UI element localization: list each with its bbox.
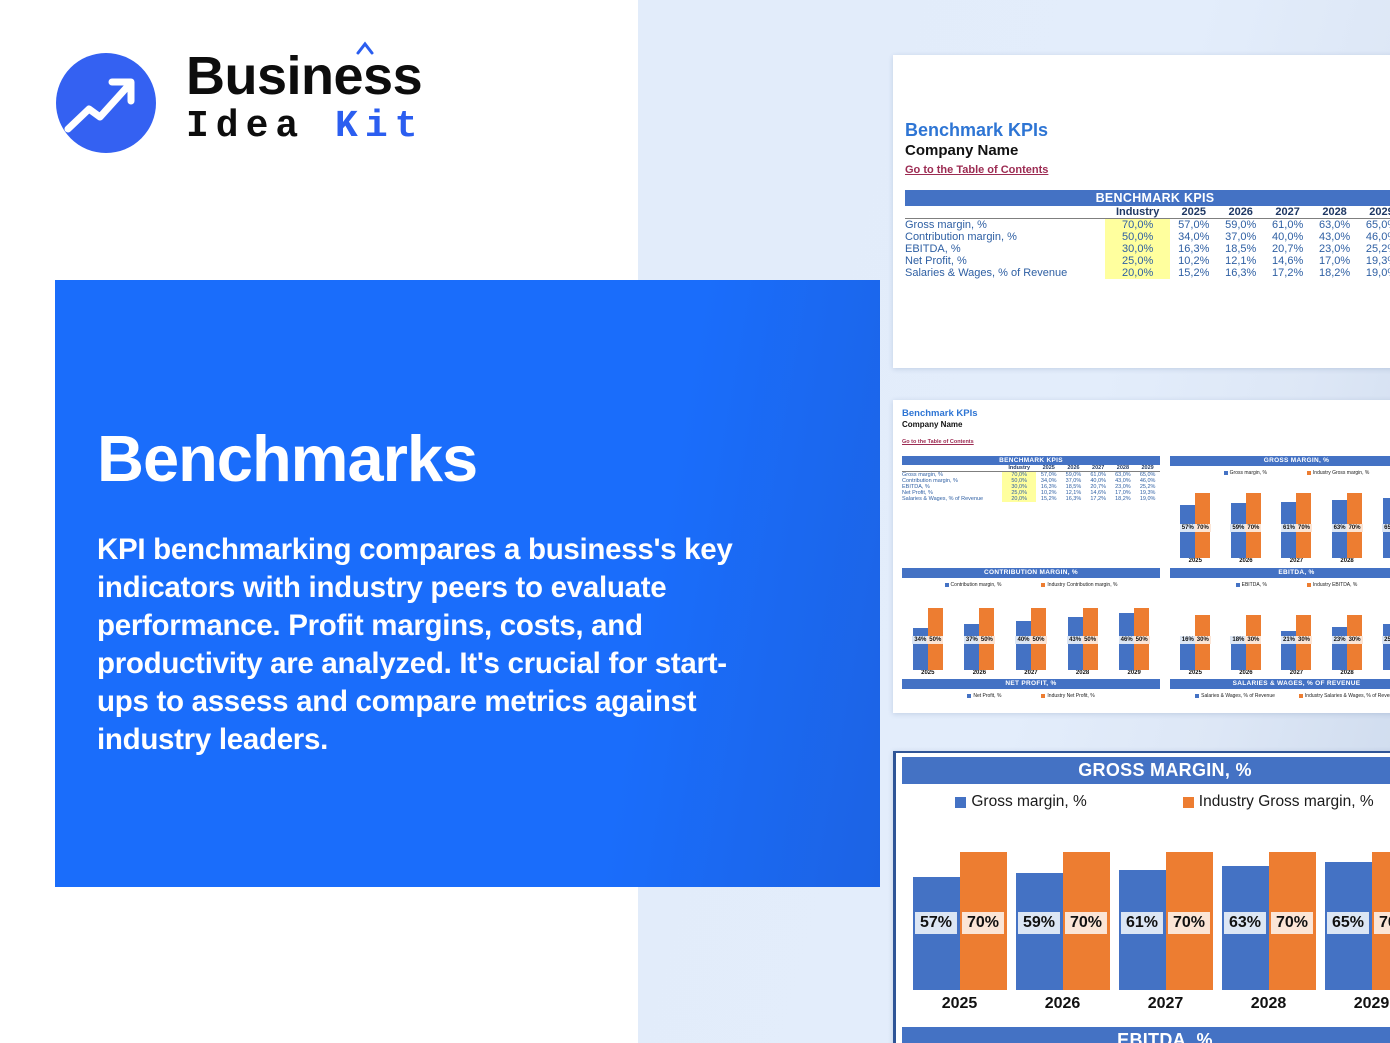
legend-item-series2: Industry Gross margin, % bbox=[1183, 793, 1374, 811]
bar-value-label: 18% bbox=[1230, 636, 1246, 644]
legend-item-series1: Contribution margin, % bbox=[945, 582, 1002, 588]
chart-gross-margin-mini[interactable]: GROSS MARGIN, % Gross margin, % Industry… bbox=[1170, 456, 1390, 564]
bar-value-label: 70% bbox=[1065, 912, 1107, 934]
bar: 63% bbox=[1332, 500, 1347, 558]
chart-legend: EBITDA, % Industry EBITDA, % bbox=[1170, 582, 1390, 588]
bar: 50% bbox=[1134, 608, 1149, 670]
chart-title: EBITDA, % bbox=[902, 1027, 1390, 1043]
x-axis-tick: 2025 bbox=[1172, 558, 1218, 564]
legend-item-series1: Gross margin, % bbox=[1224, 470, 1267, 476]
x-axis-tick: 2025 bbox=[910, 995, 1010, 1013]
cell-value: 40,0% bbox=[1264, 231, 1311, 243]
bar: 70% bbox=[1195, 493, 1210, 558]
circumflex-accent-icon bbox=[356, 41, 374, 55]
chart-x-axis: 20252026202720282029 bbox=[1170, 670, 1390, 676]
bar-group: 61%70% bbox=[1119, 832, 1213, 990]
bar: 61% bbox=[1281, 502, 1296, 558]
bar-value-label: 63% bbox=[1224, 912, 1266, 934]
chart-title: CONTRIBUTION MARGIN, % bbox=[902, 568, 1160, 578]
bar-value-label: 70% bbox=[962, 912, 1004, 934]
bar: 50% bbox=[1031, 608, 1046, 670]
column-header: 2026 bbox=[1217, 206, 1264, 219]
cell-value: 16,3% bbox=[1217, 267, 1264, 279]
bar-value-label: 61% bbox=[1121, 912, 1163, 934]
x-axis-tick: 2027 bbox=[1116, 995, 1216, 1013]
bar-group: 65%70% bbox=[1325, 832, 1390, 990]
legend-swatch-blue-icon bbox=[967, 694, 971, 698]
chart-title: SALARIES & WAGES, % OF REVENUE bbox=[1170, 679, 1390, 689]
legend-label: Gross margin, % bbox=[971, 793, 1086, 811]
spreadsheet-card-charts[interactable]: GROSS MARGIN, % Gross margin, % Industry… bbox=[893, 751, 1390, 1043]
kpi-band-title: BENCHMARK KPIS bbox=[905, 190, 1390, 206]
table-row: Salaries & Wages, % of Revenue20,0%15,2%… bbox=[905, 267, 1390, 279]
cell-value: 61,0% bbox=[1264, 219, 1311, 232]
x-axis-tick: 2026 bbox=[1223, 670, 1269, 676]
legend-item-series1: Salaries & Wages, % of Revenue bbox=[1195, 693, 1275, 699]
bar: 70% bbox=[1372, 852, 1390, 990]
bar-group: 46%50% bbox=[1119, 596, 1149, 670]
cell-value: 15,2% bbox=[1036, 496, 1061, 502]
brand-line-1: Business bbox=[186, 47, 424, 105]
legend-swatch-orange-icon bbox=[1299, 694, 1303, 698]
bar: 57% bbox=[1180, 505, 1195, 558]
bar-value-label: 70% bbox=[1195, 524, 1211, 532]
table-row: Contribution margin, %50,0%34,0%37,0%40,… bbox=[905, 231, 1390, 243]
cell-value: 17,2% bbox=[1264, 267, 1311, 279]
bar: 70% bbox=[960, 852, 1007, 990]
spreadsheet-card-dashboard[interactable]: Benchmark KPIs Company Name Go to the Ta… bbox=[893, 400, 1390, 713]
bar-value-label: 70% bbox=[1168, 912, 1210, 934]
cell-value: 63,0% bbox=[1311, 219, 1358, 232]
legend-label: Net Profit, % bbox=[973, 693, 1001, 699]
legend-swatch-orange-icon bbox=[1307, 471, 1311, 475]
sheet-company-name-mini: Company Name bbox=[902, 420, 1390, 430]
bar: 34% bbox=[913, 628, 928, 670]
cell-industry: 20,0% bbox=[1105, 267, 1170, 279]
cell-value: 37,0% bbox=[1217, 231, 1264, 243]
row-label: Net Profit, % bbox=[905, 255, 1105, 267]
x-axis-tick: 2028 bbox=[1324, 558, 1370, 564]
bar: 40% bbox=[1016, 621, 1031, 670]
table-row: Salaries & Wages, % of Revenue20,0%15,2%… bbox=[902, 496, 1160, 502]
cell-industry: 50,0% bbox=[1105, 231, 1170, 243]
bar-value-label: 34% bbox=[912, 636, 928, 644]
x-axis-tick: 2029 bbox=[1322, 995, 1390, 1013]
bar: 16% bbox=[1180, 640, 1195, 670]
x-axis-tick: 2026 bbox=[956, 670, 1002, 676]
bar-value-label: 30% bbox=[1347, 636, 1363, 644]
table-row: EBITDA, %30,0%16,3%18,5%20,7%23,0%25,2% bbox=[905, 243, 1390, 255]
chart-title: GROSS MARGIN, % bbox=[902, 757, 1390, 784]
legend-label: Industry Net Profit, % bbox=[1047, 693, 1094, 699]
brand-line-2: Idea Kit bbox=[186, 105, 424, 149]
hero-description: KPI benchmarking compares a business's k… bbox=[97, 531, 757, 759]
bar-group: 63%70% bbox=[1332, 484, 1362, 558]
legend-swatch-orange-icon bbox=[1183, 797, 1194, 808]
bar-value-label: 46% bbox=[1119, 636, 1135, 644]
bar-value-label: 70% bbox=[1347, 524, 1363, 532]
x-axis-tick: 2027 bbox=[1008, 670, 1054, 676]
sheet-title: Benchmark KPIs bbox=[905, 119, 1390, 141]
cell-value: 16,3% bbox=[1061, 496, 1086, 502]
brand-line-1-text: Business bbox=[186, 46, 422, 106]
bar-value-label: 50% bbox=[1134, 636, 1150, 644]
legend-label: Salaries & Wages, % of Revenue bbox=[1201, 693, 1275, 699]
sheet-company-name: Company Name bbox=[905, 141, 1390, 160]
row-label: Salaries & Wages, % of Revenue bbox=[905, 267, 1105, 279]
chart-title: GROSS MARGIN, % bbox=[1170, 456, 1390, 466]
slide-canvas: Business Idea Kit Benchmarks KPI benchma… bbox=[0, 0, 1390, 1043]
bar: 50% bbox=[928, 608, 943, 670]
x-axis-tick: 2027 bbox=[1273, 670, 1319, 676]
cell-value: 19,3% bbox=[1358, 255, 1390, 267]
table-of-contents-link-mini[interactable]: Go to the Table of Contents bbox=[902, 438, 974, 446]
cell-industry: 20,0% bbox=[1002, 496, 1036, 502]
bar: 70% bbox=[1166, 852, 1213, 990]
bar-group: 16%30% bbox=[1180, 596, 1210, 670]
chart-contribution-margin-mini[interactable]: CONTRIBUTION MARGIN, % Contribution marg… bbox=[902, 568, 1160, 676]
legend-swatch-blue-icon bbox=[1195, 694, 1199, 698]
bar-value-label: 25% bbox=[1382, 636, 1390, 644]
chart-gross-margin-large[interactable]: GROSS MARGIN, % Gross margin, % Industry… bbox=[896, 757, 1390, 1013]
bar-group: 59%70% bbox=[1231, 484, 1261, 558]
legend-swatch-orange-icon bbox=[1307, 583, 1311, 587]
bar: 21% bbox=[1281, 631, 1296, 670]
bar-group: 59%70% bbox=[1016, 832, 1110, 990]
sheet-title-mini: Benchmark KPIs bbox=[902, 408, 1390, 420]
bar-value-label: 23% bbox=[1332, 636, 1348, 644]
cell-value: 34,0% bbox=[1170, 231, 1217, 243]
bar: 70% bbox=[1296, 493, 1311, 558]
bar-group: 23%30% bbox=[1332, 596, 1362, 670]
bar-value-label: 43% bbox=[1067, 636, 1083, 644]
column-header: 2028 bbox=[1311, 206, 1358, 219]
bar-group: 18%30% bbox=[1231, 596, 1261, 670]
x-axis-tick: 2028 bbox=[1324, 670, 1370, 676]
chart-legend: Gross margin, % Industry Gross margin, % bbox=[1170, 470, 1390, 476]
table-header-row: Industry20252026202720282029 bbox=[905, 206, 1390, 219]
cell-value: 15,2% bbox=[1170, 267, 1217, 279]
column-header: 2027 bbox=[1264, 206, 1311, 219]
bar-value-label: 59% bbox=[1018, 912, 1060, 934]
table-of-contents-link[interactable]: Go to the Table of Contents bbox=[905, 163, 1048, 178]
x-axis-tick: 2029 bbox=[1375, 558, 1390, 564]
bar-group: 43%50% bbox=[1068, 596, 1098, 670]
bar-value-label: 30% bbox=[1245, 636, 1261, 644]
x-axis-tick: 2029 bbox=[1375, 670, 1390, 676]
bar: 46% bbox=[1119, 613, 1134, 670]
x-axis-tick: 2029 bbox=[1111, 670, 1157, 676]
legend-swatch-orange-icon bbox=[1041, 694, 1045, 698]
legend-label: Industry EBITDA, % bbox=[1313, 582, 1357, 588]
bar: 43% bbox=[1068, 617, 1083, 670]
chart-plot-area: 16%30%18%30%21%30%23%30%25%30% bbox=[1170, 596, 1390, 670]
cell-value: 18,5% bbox=[1217, 243, 1264, 255]
chart-x-axis: 20252026202720282029 bbox=[908, 995, 1390, 1013]
legend-swatch-blue-icon bbox=[945, 583, 949, 587]
x-axis-tick: 2027 bbox=[1273, 558, 1319, 564]
bar: 50% bbox=[979, 608, 994, 670]
bar: 70% bbox=[1246, 493, 1261, 558]
row-label: EBITDA, % bbox=[905, 243, 1105, 255]
bar: 30% bbox=[1246, 615, 1261, 671]
legend-item-series2: Industry Salaries & Wages, % of Revenue bbox=[1299, 693, 1390, 699]
cell-value: 16,3% bbox=[1170, 243, 1217, 255]
cell-value: 65,0% bbox=[1358, 219, 1390, 232]
cell-value: 43,0% bbox=[1311, 231, 1358, 243]
x-axis-tick: 2026 bbox=[1223, 558, 1269, 564]
bar-value-label: 65% bbox=[1327, 912, 1369, 934]
cell-value: 19,0% bbox=[1358, 267, 1390, 279]
cell-value: 46,0% bbox=[1358, 231, 1390, 243]
legend-label: Gross margin, % bbox=[1230, 470, 1267, 476]
bar-group: 40%50% bbox=[1016, 596, 1046, 670]
column-header: 2029 bbox=[1358, 206, 1390, 219]
cell-industry: 25,0% bbox=[1105, 255, 1170, 267]
kpi-table[interactable]: Industry20252026202720282029Gross margin… bbox=[905, 206, 1390, 279]
bar: 30% bbox=[1347, 615, 1362, 671]
bar: 50% bbox=[1083, 608, 1098, 670]
bar-value-label: 30% bbox=[1195, 636, 1211, 644]
legend-label: Contribution margin, % bbox=[951, 582, 1002, 588]
cell-value: 18,2% bbox=[1311, 267, 1358, 279]
spreadsheet-card-kpi-table[interactable]: Benchmark KPIs Company Name Go to the Ta… bbox=[893, 55, 1390, 368]
bar-value-label: 50% bbox=[927, 636, 943, 644]
bar-value-label: 50% bbox=[1082, 636, 1098, 644]
legend-swatch-blue-icon bbox=[955, 797, 966, 808]
bar-group: 21%30% bbox=[1281, 596, 1311, 670]
legend-label: EBITDA, % bbox=[1242, 582, 1267, 588]
legend-swatch-orange-icon bbox=[1041, 583, 1045, 587]
bar: 61% bbox=[1119, 870, 1166, 990]
brand-logo[interactable]: Business Idea Kit bbox=[56, 47, 456, 162]
chart-legend: Net Profit, % Industry Net Profit, % bbox=[902, 693, 1160, 699]
cell-value: 12,1% bbox=[1217, 255, 1264, 267]
bar-group: 25%30% bbox=[1383, 596, 1390, 670]
legend-label: Industry Contribution margin, % bbox=[1047, 582, 1117, 588]
chart-title: NET PROFIT, % bbox=[902, 679, 1160, 689]
bar-value-label: 70% bbox=[1271, 912, 1313, 934]
legend-swatch-blue-icon bbox=[1236, 583, 1240, 587]
row-label: Gross margin, % bbox=[905, 219, 1105, 232]
bar-value-label: 30% bbox=[1296, 636, 1312, 644]
bar-value-label: 50% bbox=[979, 636, 995, 644]
bar: 59% bbox=[1016, 873, 1063, 990]
bar: 30% bbox=[1296, 615, 1311, 671]
bar-value-label: 57% bbox=[915, 912, 957, 934]
bar: 30% bbox=[1195, 615, 1210, 671]
bar: 57% bbox=[913, 877, 960, 990]
bar: 70% bbox=[1063, 852, 1110, 990]
x-axis-tick: 2028 bbox=[1060, 670, 1106, 676]
bar-value-label: 63% bbox=[1332, 524, 1348, 532]
legend-label: Industry Salaries & Wages, % of Revenue bbox=[1305, 693, 1390, 699]
chart-x-axis: 20252026202720282029 bbox=[1170, 558, 1390, 564]
bar-value-label: 61% bbox=[1281, 524, 1297, 532]
chart-x-axis: 20252026202720282029 bbox=[902, 670, 1160, 676]
chart-ebitda-mini[interactable]: EBITDA, % EBITDA, % Industry EBITDA, % 1… bbox=[1170, 568, 1390, 676]
legend-item-series2: Industry Gross margin, % bbox=[1307, 470, 1369, 476]
chart-plot-area: 57%70%59%70%61%70%63%70%65%70% bbox=[908, 832, 1390, 990]
bar-value-label: 65% bbox=[1382, 524, 1390, 532]
brand-line-2-main: Idea bbox=[186, 105, 335, 148]
legend-item-series1: EBITDA, % bbox=[1236, 582, 1267, 588]
bar-value-label: 70% bbox=[1296, 524, 1312, 532]
brand-line-2-accent: Kit bbox=[335, 105, 424, 148]
bar-value-label: 57% bbox=[1180, 524, 1196, 532]
bar-value-label: 16% bbox=[1180, 636, 1196, 644]
cell-industry: 70,0% bbox=[1105, 219, 1170, 232]
chart-title: EBITDA, % bbox=[1170, 568, 1390, 578]
bar: 70% bbox=[1269, 852, 1316, 990]
row-label: Salaries & Wages, % of Revenue bbox=[902, 496, 1002, 502]
table-row: Gross margin, %70,0%57,0%59,0%61,0%63,0%… bbox=[905, 219, 1390, 232]
cell-industry: 30,0% bbox=[1105, 243, 1170, 255]
bar: 23% bbox=[1332, 627, 1347, 670]
cell-value: 20,7% bbox=[1264, 243, 1311, 255]
chart-legend: Gross margin, % Industry Gross margin, % bbox=[896, 793, 1390, 811]
x-axis-tick: 2028 bbox=[1219, 995, 1319, 1013]
cell-value: 18,2% bbox=[1111, 496, 1136, 502]
cell-value: 23,0% bbox=[1311, 243, 1358, 255]
bar-group: 65%70% bbox=[1383, 484, 1390, 558]
bar-group: 57%70% bbox=[1180, 484, 1210, 558]
bar: 65% bbox=[1325, 862, 1372, 990]
kpi-band-title-mini: BENCHMARK KPIS bbox=[902, 456, 1160, 465]
cell-value: 59,0% bbox=[1217, 219, 1264, 232]
bar-value-label: 70% bbox=[1374, 912, 1390, 934]
chart-salaries-wages-mini[interactable]: SALARIES & WAGES, % OF REVENUE Salaries … bbox=[1170, 679, 1390, 699]
cell-value: 17,2% bbox=[1086, 496, 1111, 502]
legend-item-series2: Industry Contribution margin, % bbox=[1041, 582, 1117, 588]
cell-value: 19,0% bbox=[1135, 496, 1160, 502]
bar: 25% bbox=[1383, 624, 1390, 670]
bar: 18% bbox=[1231, 637, 1246, 670]
brand-wordmark: Business Idea Kit bbox=[186, 47, 424, 149]
bar: 59% bbox=[1231, 503, 1246, 558]
legend-item-series1: Net Profit, % bbox=[967, 693, 1001, 699]
bar: 37% bbox=[964, 624, 979, 670]
table-row: Net Profit, %25,0%10,2%12,1%14,6%17,0%19… bbox=[905, 255, 1390, 267]
bar: 65% bbox=[1383, 498, 1390, 558]
column-header: 2025 bbox=[1170, 206, 1217, 219]
bar-group: 63%70% bbox=[1222, 832, 1316, 990]
legend-item-series1: Gross margin, % bbox=[955, 793, 1086, 811]
bar-group: 57%70% bbox=[913, 832, 1007, 990]
kpi-table-mini[interactable]: Industry20252026202720282029Gross margin… bbox=[902, 465, 1160, 502]
bar-value-label: 40% bbox=[1015, 636, 1031, 644]
mini-kpi-table-wrap: BENCHMARK KPIS Industry20252026202720282… bbox=[902, 456, 1160, 564]
bar-group: 61%70% bbox=[1281, 484, 1311, 558]
legend-swatch-blue-icon bbox=[1224, 471, 1228, 475]
bar-group: 34%50% bbox=[913, 596, 943, 670]
cell-value: 17,0% bbox=[1311, 255, 1358, 267]
legend-label: Industry Gross margin, % bbox=[1199, 793, 1374, 811]
bar-value-label: 50% bbox=[1030, 636, 1046, 644]
bar: 70% bbox=[1347, 493, 1362, 558]
bar-value-label: 37% bbox=[964, 636, 980, 644]
chart-legend: Contribution margin, % Industry Contribu… bbox=[902, 582, 1160, 588]
cell-value: 10,2% bbox=[1170, 255, 1217, 267]
chart-plot-area: 57%70%59%70%61%70%63%70%65%70% bbox=[1170, 484, 1390, 558]
growth-chart-circle-icon bbox=[56, 53, 156, 153]
column-header: Industry bbox=[1105, 206, 1170, 219]
x-axis-tick: 2025 bbox=[905, 670, 951, 676]
bar-value-label: 70% bbox=[1245, 524, 1261, 532]
legend-item-series2: Industry EBITDA, % bbox=[1307, 582, 1357, 588]
legend-label: Industry Gross margin, % bbox=[1313, 470, 1369, 476]
chart-legend: Salaries & Wages, % of Revenue Industry … bbox=[1170, 693, 1390, 699]
chart-net-profit-mini[interactable]: NET PROFIT, % Net Profit, % Industry Net… bbox=[902, 679, 1160, 699]
chart-ebitda-large[interactable]: EBITDA, % EBITDA, % Industry EBITDA, % bbox=[896, 1027, 1390, 1043]
cell-value: 14,6% bbox=[1264, 255, 1311, 267]
x-axis-tick: 2026 bbox=[1013, 995, 1113, 1013]
x-axis-tick: 2025 bbox=[1172, 670, 1218, 676]
cell-value: 25,2% bbox=[1358, 243, 1390, 255]
bar-value-label: 59% bbox=[1230, 524, 1246, 532]
cell-value: 57,0% bbox=[1170, 219, 1217, 232]
chart-plot-area: 34%50%37%50%40%50%43%50%46%50% bbox=[902, 596, 1160, 670]
bar: 63% bbox=[1222, 866, 1269, 990]
bar-value-label: 21% bbox=[1281, 636, 1297, 644]
bar-group: 37%50% bbox=[964, 596, 994, 670]
legend-item-series2: Industry Net Profit, % bbox=[1041, 693, 1094, 699]
page-title: Benchmarks bbox=[97, 424, 777, 494]
row-label: Contribution margin, % bbox=[905, 231, 1105, 243]
